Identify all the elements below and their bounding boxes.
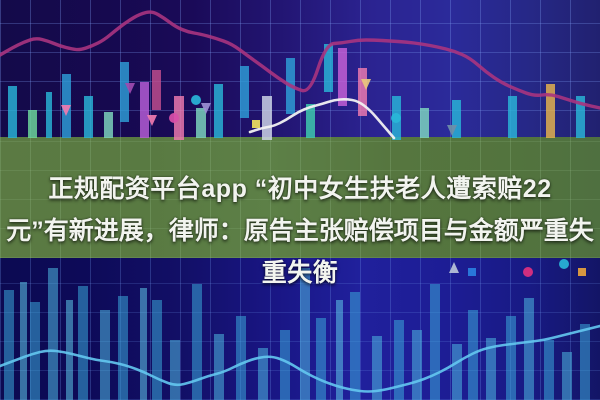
chart-bar	[546, 84, 555, 138]
chart-banner-image: 正规配资平台app “初中女生扶老人遭索赔22 元”有新进展，律师：原告主张赔偿…	[0, 0, 600, 400]
chart-bar	[262, 96, 272, 140]
upper-trend-panel-group	[0, 12, 600, 179]
chart-bar	[140, 82, 149, 138]
chart-bar	[214, 84, 223, 138]
chart-line-magenta-trend-line	[0, 12, 600, 108]
chart-line-yellow-green-signal-line	[0, 147, 600, 179]
chart-bar	[28, 110, 37, 138]
chart-bar	[338, 48, 347, 106]
marker-triangle-up-icon	[21, 158, 31, 169]
chart-bar	[420, 108, 429, 138]
chart-bar	[8, 86, 17, 138]
marker-triangle-up-icon	[143, 154, 153, 165]
chart-bar	[46, 92, 52, 138]
chart-bar	[84, 96, 93, 138]
marker-square-icon	[252, 120, 260, 128]
chart-bar	[104, 112, 113, 138]
marker-circle-icon	[169, 113, 179, 123]
chart-bar	[358, 68, 367, 116]
chart-bar	[240, 66, 249, 118]
marker-circle-icon	[191, 95, 201, 105]
chart-bar	[152, 70, 161, 110]
marker-triangle-up-icon	[429, 152, 439, 163]
upper-chart-vectors	[0, 0, 600, 400]
chart-bar	[196, 108, 206, 138]
chart-bar	[508, 96, 517, 138]
marker-circle-icon	[349, 157, 359, 167]
chart-bar	[120, 62, 129, 122]
marker-circle-icon	[391, 113, 401, 123]
